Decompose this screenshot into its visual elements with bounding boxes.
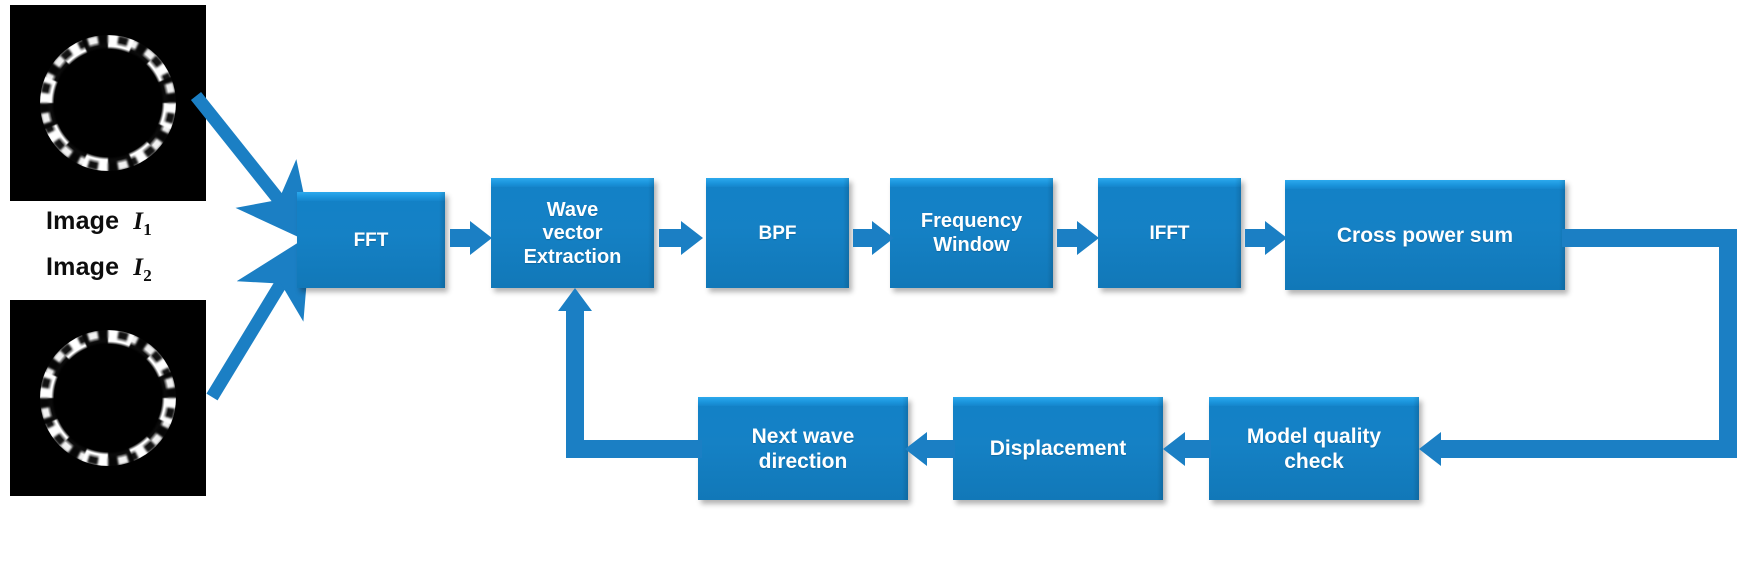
process-box-wave-vector[interactable]: WavevectorExtraction [491,178,654,288]
process-box-next-wave-direction[interactable]: Next wavedirection [698,397,908,500]
connector-next-wave-up-segment [566,310,584,450]
image-2-symbol: I [119,254,143,281]
ring-pattern-2 [10,300,206,496]
connector-cross-power-sum-down-segment [1719,229,1737,449]
input-image-1-caption: ImageI1 [46,207,152,240]
image-2-subscript: 2 [143,266,152,285]
process-box-fft-label: FFT [354,230,389,252]
process-box-ifft-label: IFFT [1149,223,1189,245]
image-1-symbol: I [119,208,143,235]
process-box-frequency-window-label: FrequencyWindow [921,210,1022,257]
process-box-displacement[interactable]: Displacement [953,397,1163,500]
image-1-label: Image [46,207,119,235]
input-image-1-thumbnail [10,5,206,201]
image-1-subscript: 1 [143,220,152,239]
input-image-2-caption: ImageI2 [46,253,152,286]
process-box-cross-power-sum[interactable]: Cross power sum [1285,180,1565,290]
process-box-model-quality-check[interactable]: Model qualitycheck [1209,397,1419,500]
process-box-displacement-label: Displacement [990,437,1127,462]
process-box-model-quality-check-label: Model qualitycheck [1247,425,1381,475]
process-box-bpf-label: BPF [759,223,797,245]
process-box-ifft[interactable]: IFFT [1098,178,1241,288]
image-2-label: Image [46,253,119,281]
process-box-bpf[interactable]: BPF [706,178,849,288]
connector-arrowhead-into-wave-vector [558,288,592,311]
process-box-frequency-window[interactable]: FrequencyWindow [890,178,1053,288]
flowchart-canvas: ImageI1 ImageI2 FFT W [0,0,1747,564]
process-box-cross-power-sum-label: Cross power sum [1337,224,1513,249]
ring-pattern-1 [10,5,206,201]
process-box-wave-vector-label: WavevectorExtraction [524,199,622,270]
connector-next-wave-left-segment [566,440,702,458]
process-box-fft[interactable]: FFT [297,192,445,288]
connector-cross-power-sum-right-segment [1562,229,1737,247]
process-box-next-wave-direction-label: Next wavedirection [752,425,855,475]
input-image-2-thumbnail [10,300,206,496]
